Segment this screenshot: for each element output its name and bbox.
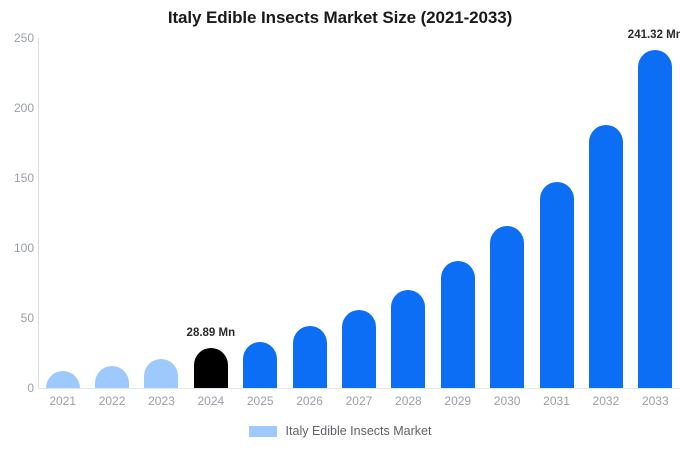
bar-slot	[589, 38, 623, 388]
bar-slot	[540, 38, 574, 388]
x-axis-tick-label: 2027	[334, 394, 383, 408]
bar[interactable]	[243, 342, 277, 388]
bar-slot	[490, 38, 524, 388]
bar-slot: 241.32 Mn	[638, 38, 672, 388]
x-axis-tick-label: 2026	[285, 394, 334, 408]
x-axis-tick-label: 2031	[532, 394, 581, 408]
bar[interactable]	[490, 226, 524, 388]
bar-slot	[144, 38, 178, 388]
y-axis-tick-label: 100	[0, 241, 34, 255]
plot-area: 28.89 Mn241.32 Mn	[38, 38, 680, 388]
x-axis-tick-labels: 2021202220232024202520262027202820292030…	[38, 394, 680, 414]
bar-slot	[391, 38, 425, 388]
chart-title: Italy Edible Insects Market Size (2021-2…	[0, 8, 680, 28]
legend-label[interactable]: Italy Edible Insects Market	[286, 424, 432, 438]
bar-slot	[342, 38, 376, 388]
x-axis-tick-label: 2021	[38, 394, 87, 408]
legend-swatch[interactable]	[249, 426, 277, 437]
bar[interactable]	[540, 182, 574, 388]
y-axis-tick-label: 0	[0, 381, 34, 395]
x-axis-tick-label: 2022	[87, 394, 136, 408]
bar-value-label: 28.89 Mn	[187, 327, 236, 339]
x-axis-tick-label: 2023	[137, 394, 186, 408]
bar-slot	[46, 38, 80, 388]
bar[interactable]	[46, 371, 80, 388]
bar[interactable]	[391, 290, 425, 388]
bar-value-label: 241.32 Mn	[628, 29, 680, 41]
x-axis-tick-label: 2030	[482, 394, 531, 408]
bar-slot	[95, 38, 129, 388]
x-axis-tick-label: 2025	[236, 394, 285, 408]
x-axis-tick-label: 2024	[186, 394, 235, 408]
bar[interactable]	[293, 326, 327, 388]
y-axis-tick-label: 150	[0, 171, 34, 185]
x-axis-tick-label: 2028	[384, 394, 433, 408]
bar-slot	[441, 38, 475, 388]
bar-chart: Italy Edible Insects Market Size (2021-2…	[0, 0, 680, 450]
bar-slot	[293, 38, 327, 388]
x-axis-line	[38, 388, 680, 389]
x-axis-tick-label: 2033	[631, 394, 680, 408]
bar[interactable]	[194, 348, 228, 388]
bar[interactable]	[638, 50, 672, 388]
y-axis-tick-label: 250	[0, 31, 34, 45]
x-axis-tick-label: 2029	[433, 394, 482, 408]
bar-slot: 28.89 Mn	[194, 38, 228, 388]
bar-slot	[243, 38, 277, 388]
bar[interactable]	[144, 359, 178, 388]
x-axis-tick-label: 2032	[581, 394, 630, 408]
bar[interactable]	[342, 310, 376, 388]
chart-legend: Italy Edible Insects Market	[0, 424, 680, 438]
bar[interactable]	[589, 125, 623, 388]
y-axis-tick-label: 50	[0, 311, 34, 325]
bar[interactable]	[441, 261, 475, 388]
y-axis-tick-label: 200	[0, 101, 34, 115]
bar[interactable]	[95, 366, 129, 388]
bars-container: 28.89 Mn241.32 Mn	[38, 38, 680, 388]
